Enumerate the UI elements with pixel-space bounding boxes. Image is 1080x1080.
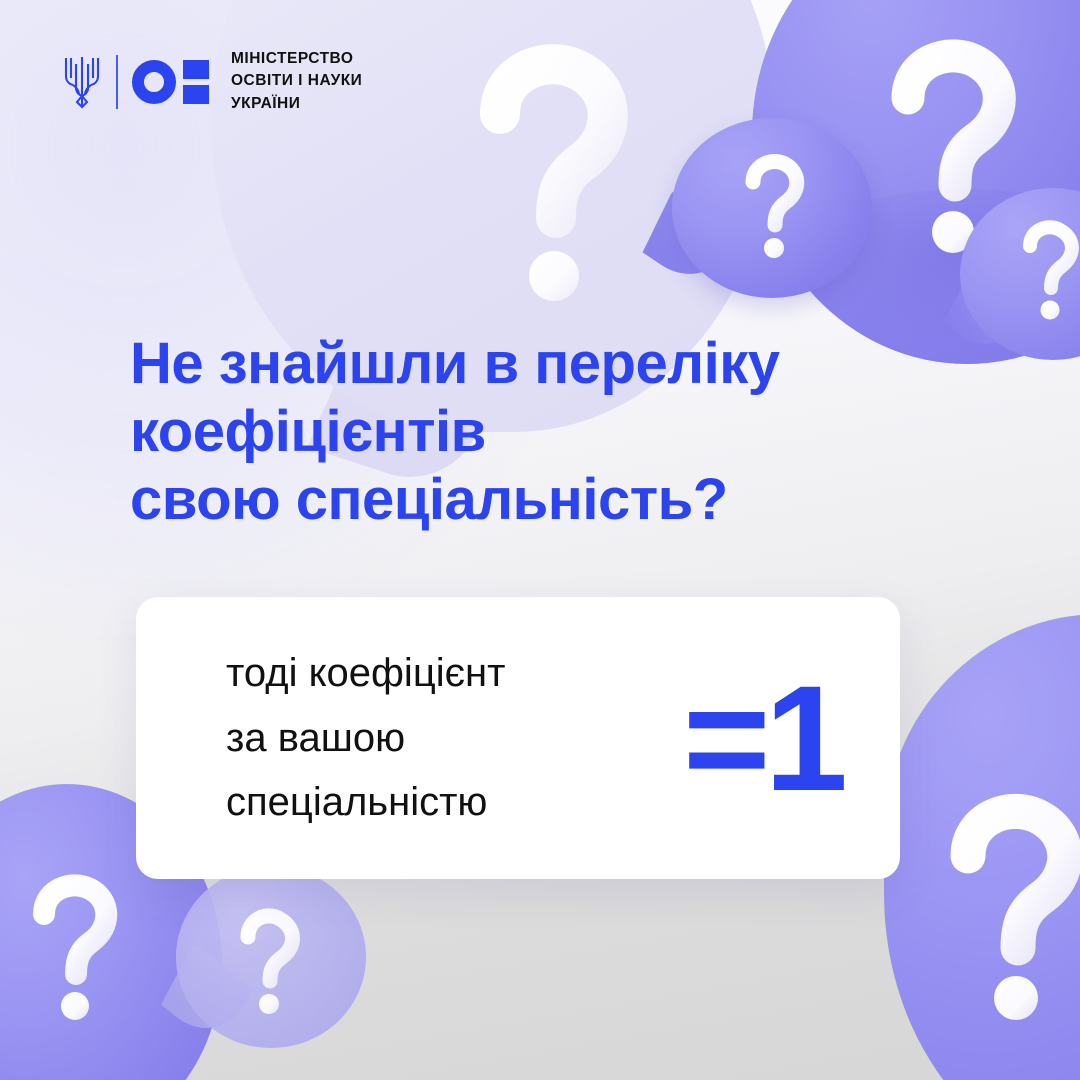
ukraine-trident-emblem [62,54,102,110]
mon-logo[interactable]: МІНІСТЕРСТВО ОСВІТИ І НАУКИ УКРАЇНИ [62,48,362,115]
headline-line-3: свою спеціальність? [130,466,990,534]
logo-bar-top [183,60,209,79]
logo-divider [116,55,118,109]
page-title: Не знайшли в переліку коефіцієнтів свою … [130,330,990,534]
headline-line-1: Не знайшли в переліку [130,330,990,398]
answer-card: тоді коефіцієнт за вашою спеціальністю =… [136,597,900,879]
headline-line-2: коефіцієнтів [130,398,990,466]
logo-text: МІНІСТЕРСТВО ОСВІТИ І НАУКИ УКРАЇНИ [231,48,362,115]
logo-text-line-2: ОСВІТИ І НАУКИ [231,70,362,92]
answer-line-1: тоді коефіцієнт [226,641,505,706]
answer-line-2: за вашою [226,706,505,771]
coefficient-value: =1 [683,663,842,813]
logo-bars [183,60,209,104]
logo-text-line-1: МІНІСТЕРСТВО [231,48,362,70]
logo-bar-bottom [183,85,209,104]
infographic-canvas: МІНІСТЕРСТВО ОСВІТИ І НАУКИ УКРАЇНИ Не з… [0,0,1080,1080]
answer-card-text: тоді коефіцієнт за вашою спеціальністю [226,641,505,835]
mon-o-mark [132,60,209,104]
logo-o-circle [132,60,176,104]
answer-line-3: спеціальністю [226,770,505,835]
logo-text-line-3: УКРАЇНИ [231,93,362,115]
purple-bubble-mid [672,118,872,298]
pale-bubble-bottom [176,866,366,1048]
